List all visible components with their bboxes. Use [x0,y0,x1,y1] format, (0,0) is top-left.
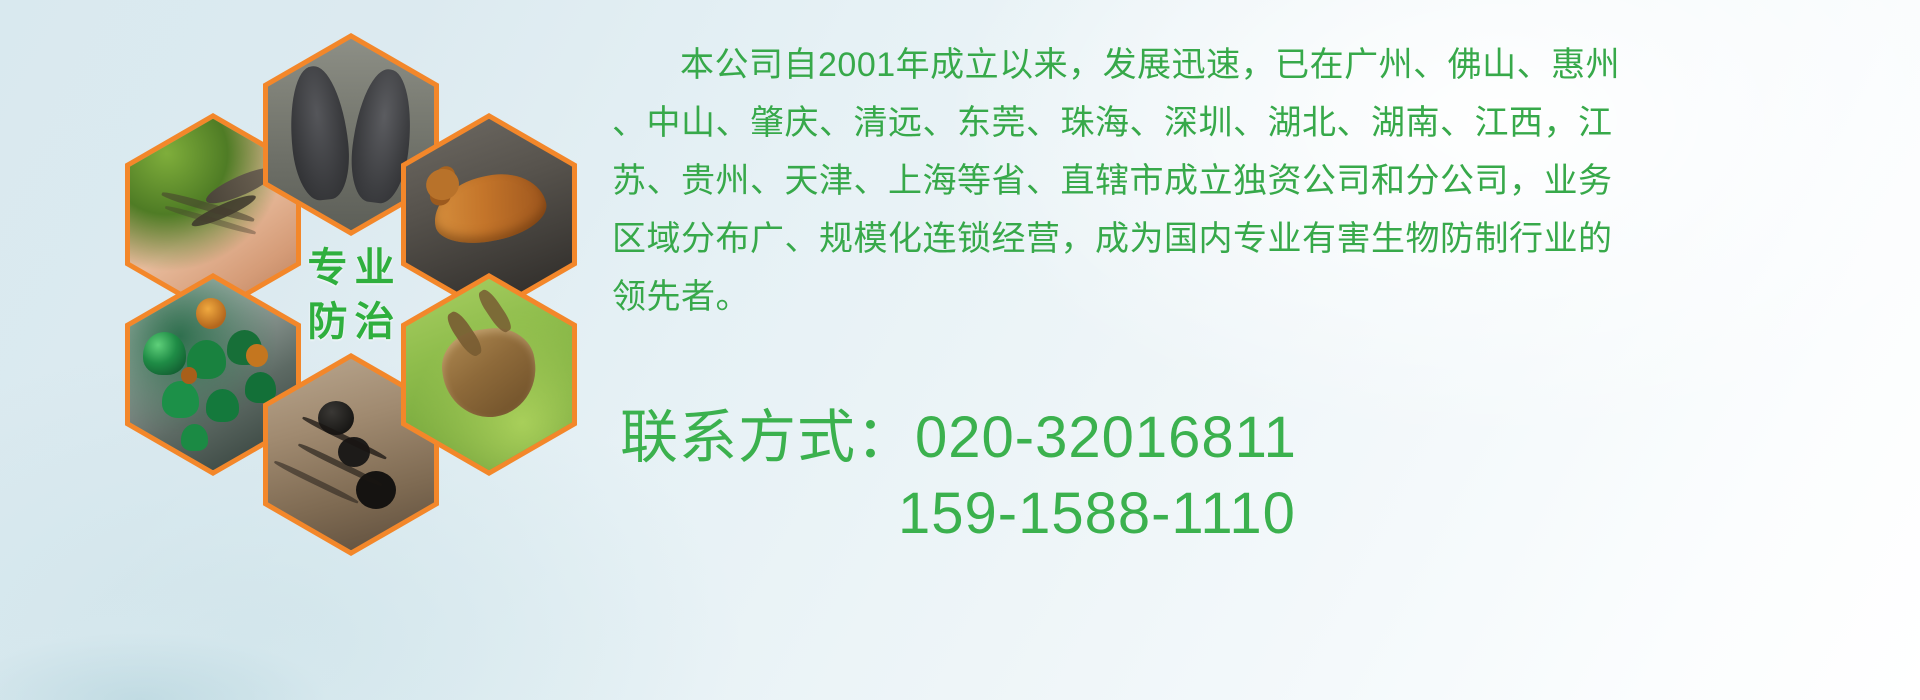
honeycomb-center-label: 专业 防治 [263,193,439,396]
description-line-3: 苏、贵州、天津、上海等省、直辖市成立独资公司和分公司，业务 [612,152,1874,210]
honeycomb-label-line-1: 专业 [301,241,402,295]
contact-secondary-row: 159-1588-1110 [620,476,1900,552]
honeycomb-label-line-2: 防治 [301,295,402,349]
contact-phone-secondary[interactable]: 159-1588-1110 [898,481,1296,546]
contact-primary-row: 联系方式：020-32016811 [620,400,1900,476]
description-line-1: 本公司自2001年成立以来，发展迅速，已在广州、佛山、惠州 [612,36,1874,94]
contact-block: 联系方式：020-32016811 159-1588-1110 [620,400,1900,552]
description-line-4: 区域分布广、规模化连锁经营，成为国内专业有害生物防制行业的 [612,210,1874,268]
contact-label: 联系方式： [620,405,915,470]
promo-banner: 专业 防治 本公司自2001年成立以来，发展迅速，已在广州、佛山、惠州 、中山、… [0,0,1920,700]
description-line-2: 、中山、肇庆、清远、东莞、珠海、深圳、湖北、湖南、江西，江 [612,94,1874,152]
honeycomb-gallery: 专业 防治 [95,8,595,558]
description-line-5: 领先者。 [612,268,1874,326]
contact-phone-primary[interactable]: 020-32016811 [915,405,1297,470]
company-description: 本公司自2001年成立以来，发展迅速，已在广州、佛山、惠州 、中山、肇庆、清远、… [612,36,1874,326]
